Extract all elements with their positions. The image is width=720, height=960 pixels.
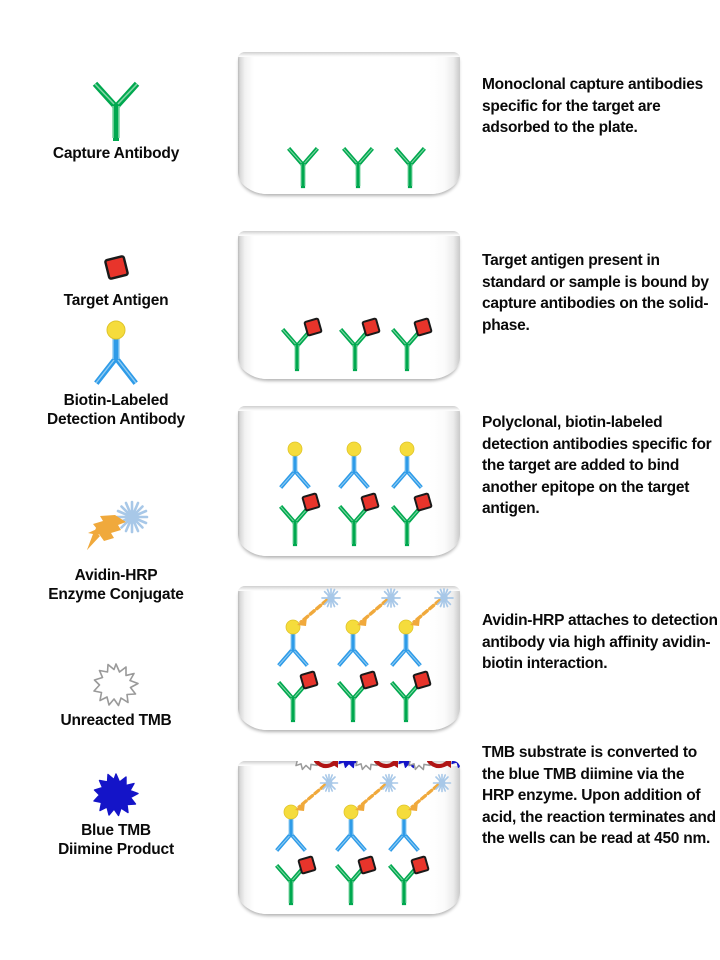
tmb-reaction-arrow [376, 761, 398, 768]
legend-label-line-2: Diimine Product [58, 841, 174, 858]
step-description-5: TMB substrate is converted to the blue T… [482, 742, 718, 850]
antibody-complex [337, 761, 424, 903]
step-description-1: Monoclonal capture antibodies specific f… [482, 74, 718, 139]
complex-group-step-2 [238, 231, 460, 379]
well-contents [238, 231, 460, 379]
legend-item-unreacted-tmb: Unreacted TMB [0, 645, 232, 730]
well-contents [238, 761, 460, 914]
legend-item-label: Biotin-Labeled Detection Antibody [0, 391, 232, 429]
step-description-4: Avidin-HRP attaches to detection antibod… [482, 610, 718, 675]
antibody-complex [281, 442, 320, 544]
complex-group-step-4 [238, 586, 460, 730]
legend-item-label: Blue TMB Diimine Product [0, 821, 232, 859]
antibody-complex [283, 318, 322, 369]
legend-column: Capture Antibody Target Antigen [0, 0, 232, 960]
legend-item-detection-antibody: Biotin-Labeled Detection Antibody [0, 325, 232, 429]
antibody-complex [341, 318, 380, 369]
well-step-2 [238, 231, 460, 379]
complex-group-step-3 [238, 406, 460, 556]
well-contents [238, 586, 460, 730]
tmb-reaction-arrow [316, 761, 338, 768]
legend-item-label: Capture Antibody [0, 144, 232, 163]
legend-label-line-1: Blue TMB [81, 822, 151, 839]
legend-label-line-1: Biotin-Labeled [64, 392, 169, 409]
complex-group-step-1 [238, 52, 460, 194]
complex-group-step-5 [238, 761, 460, 914]
antibody-complex [392, 589, 454, 720]
white-star-tmb-icon [0, 645, 232, 707]
legend-item-target-antigen: Target Antigen [0, 225, 232, 310]
legend-label-line-2: Enzyme Conjugate [48, 586, 183, 603]
legend-item-label: Avidin-HRP Enzyme Conjugate [0, 566, 232, 604]
antibody-complex [340, 442, 379, 544]
well-contents [238, 406, 460, 556]
step-description-3: Polyclonal, biotin-labeled detection ant… [482, 412, 718, 520]
antibody-complex [339, 589, 401, 720]
legend-item-avidin-hrp: Avidin-HRP Enzyme Conjugate [0, 500, 232, 604]
well-step-4 [238, 586, 460, 730]
description-column: Monoclonal capture antibodies specific f… [476, 0, 720, 960]
well-contents [238, 52, 460, 194]
antibody-complex [393, 442, 432, 544]
well-step-5 [238, 761, 460, 914]
antibody-complex [390, 761, 461, 903]
elisa-diagram: Capture Antibody Target Antigen [0, 0, 720, 960]
well-column [232, 0, 470, 960]
tmb-reaction-arrow [429, 761, 451, 768]
blue-biotin-antibody-icon [0, 325, 232, 387]
legend-item-blue-tmb-diimine: Blue TMB Diimine Product [0, 755, 232, 859]
well-step-3 [238, 406, 460, 556]
well-step-1 [238, 52, 460, 194]
legend-item-capture-antibody: Capture Antibody [0, 78, 232, 163]
antibody-complex [279, 589, 341, 720]
legend-item-label: Target Antigen [0, 291, 232, 310]
blue-star-diimine-icon [0, 755, 232, 817]
red-square-antigen-icon [0, 225, 232, 287]
green-y-antibody-icon [0, 78, 232, 140]
antibody-complex [289, 149, 425, 187]
legend-item-label: Unreacted TMB [0, 711, 232, 730]
step-description-2: Target antigen present in standard or sa… [482, 250, 718, 336]
orange-arrow-hrp-icon [0, 500, 232, 562]
legend-label-line-2: Detection Antibody [47, 411, 185, 428]
antibody-complex [393, 318, 432, 369]
legend-label-line-1: Avidin-HRP [75, 567, 158, 584]
